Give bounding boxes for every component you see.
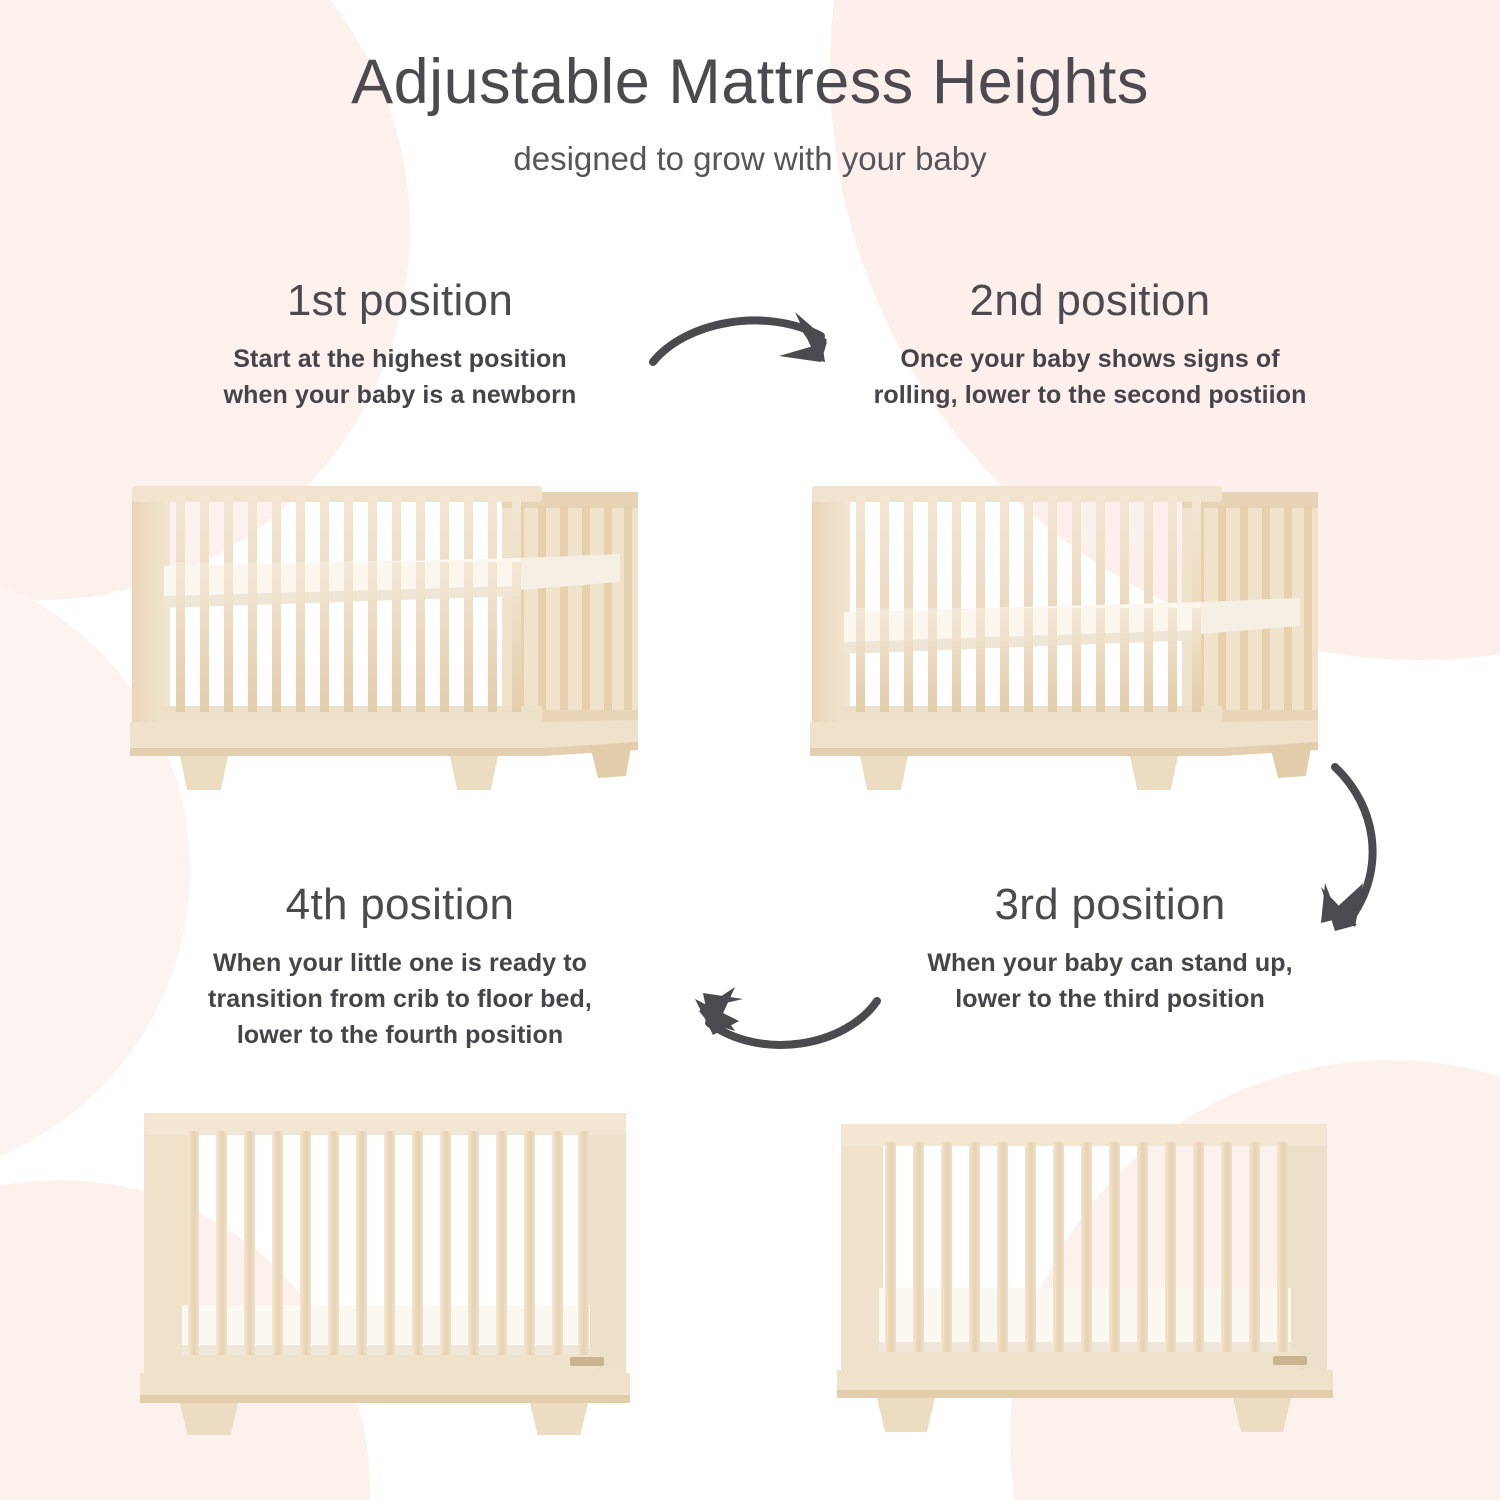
step-3-heading: 3rd position [840, 880, 1380, 931]
step-2-desc-line-2: rolling, lower to the second postiion [874, 381, 1307, 409]
step-4-desc-line-3: lower to the fourth position [237, 1021, 563, 1049]
step-1-text-block: 1st position Start at the highest positi… [140, 276, 660, 413]
crib-3-right-post [1285, 1124, 1327, 1372]
step-3-description: When your baby can stand up, lower to th… [840, 945, 1380, 1018]
crib-illustration-4th-position [130, 1095, 640, 1440]
page-subtitle: designed to grow with your baby [0, 139, 1500, 179]
step-2-text-block: 2nd position Once your baby shows signs … [820, 276, 1360, 413]
brand-badge [570, 1357, 604, 1366]
crib-1-top-rail [132, 486, 542, 502]
crib-2-foot-back [1270, 742, 1312, 778]
header: Adjustable Mattress Heights designed to … [0, 48, 1500, 179]
crib-3-left-post [841, 1124, 883, 1372]
step-3-desc-line-1: When your baby can stand up, [927, 949, 1292, 977]
infographic-page: Adjustable Mattress Heights designed to … [0, 0, 1500, 1500]
crib-1-back-panel [502, 492, 638, 728]
step-1-desc-line-1: Start at the highest position [233, 345, 566, 373]
crib-4-foot-right [530, 1403, 588, 1435]
crib-2-foot-right [1130, 756, 1178, 790]
crib-illustration-1st-position [120, 470, 660, 795]
step-1-desc-line-2: when your baby is a newborn [224, 381, 577, 409]
crib-illustration-3rd-position [825, 1110, 1345, 1445]
crib-2-top-rail [812, 486, 1222, 502]
crib-3-foot-right [1233, 1398, 1291, 1432]
crib-4-left-post [144, 1113, 188, 1375]
step-4-heading: 4th position [140, 880, 660, 931]
crib-3-bottom-rail [871, 1350, 1299, 1372]
step-1-heading: 1st position [140, 276, 660, 327]
crib-4-foot-left [180, 1403, 238, 1435]
step-4-desc-line-2: transition from crib to floor bed, [208, 985, 592, 1013]
step-3-desc-line-2: lower to the third position [955, 985, 1265, 1013]
brand-badge [1273, 1356, 1307, 1365]
crib-1-foot-back [590, 742, 632, 778]
step-4-desc-line-1: When your little one is ready to [213, 949, 587, 977]
step-4-text-block: 4th position When your little one is rea… [140, 880, 660, 1053]
step-2-desc-line-1: Once your baby shows signs of [900, 345, 1279, 373]
step-1-description: Start at the highest position when your … [140, 341, 660, 414]
crib-2-foot-left [860, 756, 908, 790]
step-4-description: When your little one is ready to transit… [140, 945, 660, 1054]
step-2-heading: 2nd position [820, 276, 1360, 327]
step-2-description: Once your baby shows signs of rolling, l… [820, 341, 1360, 414]
crib-1-foot-left [180, 756, 228, 790]
crib-1-foot-right [450, 756, 498, 790]
crib-1-left-panel [132, 488, 170, 736]
page-title: Adjustable Mattress Heights [0, 48, 1500, 117]
step-3-text-block: 3rd position When your baby can stand up… [840, 880, 1380, 1017]
crib-illustration-2nd-position [800, 470, 1340, 795]
crib-3-foot-left [877, 1398, 935, 1432]
